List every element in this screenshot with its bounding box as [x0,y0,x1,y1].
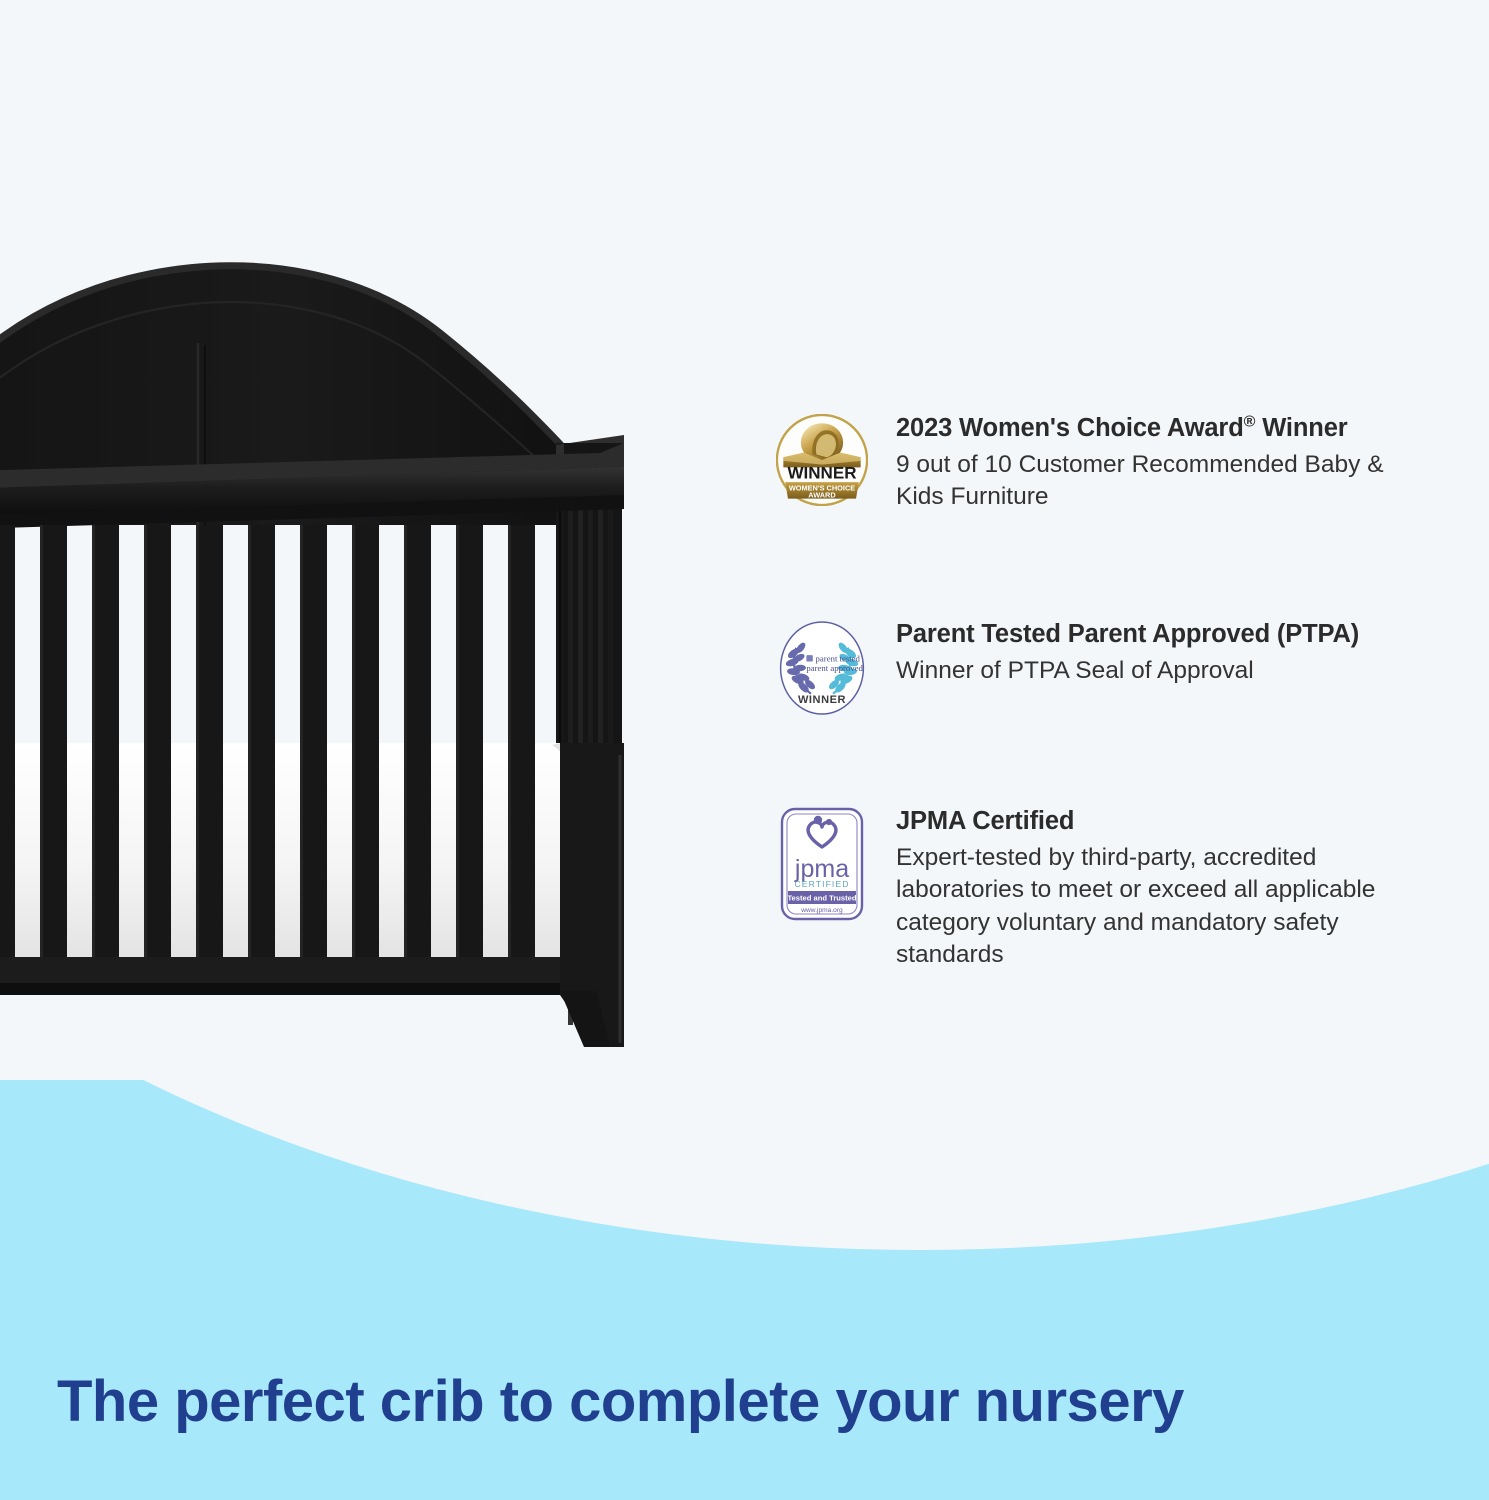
award-title: 2023 Women's Choice Award® Winner [896,412,1432,445]
badge-org-line2: AWARD [808,491,835,500]
award-description: 9 out of 10 Customer Recommended Baby & … [896,449,1416,514]
award-item-womens-choice: WINNER WOMEN'S CHOICE AWARD 2023 Women's… [772,404,1432,610]
jpma-url: www.jpma.org [800,907,843,914]
award-description: Expert-tested by third-party, accredited… [896,842,1416,972]
badge-slot: WINNER WOMEN'S CHOICE AWARD [772,404,872,506]
badge-slot: parent tested parent approved WINNER [772,610,872,716]
badge-slot: jpma CERTIFIED Tested and Trusted www.jp… [772,797,872,921]
award-item-ptpa: parent tested parent approved WINNER Par… [772,610,1432,797]
badge-winner-label: WINNER [787,463,856,482]
jpma-certified-badge: jpma CERTIFIED Tested and Trusted www.jp… [780,807,864,921]
crib-bottom-rail [0,951,624,995]
award-title: Parent Tested Parent Approved (PTPA) [896,618,1432,651]
ptpa-seal-badge: parent tested parent approved WINNER [776,620,868,716]
product-feature-image: WINNER WOMEN'S CHOICE AWARD 2023 Women's… [0,0,1489,1500]
award-title-main: 2023 Women's Choice Award [896,414,1244,442]
registered-mark: ® [1244,414,1256,431]
award-text: JPMA Certified Expert-tested by third-pa… [896,797,1432,972]
award-item-jpma: jpma CERTIFIED Tested and Trusted www.jp… [772,797,1432,972]
award-title-tail: Winner [1255,414,1347,442]
awards-list: WINNER WOMEN'S CHOICE AWARD 2023 Women's… [772,404,1432,972]
award-text: 2023 Women's Choice Award® Winner 9 out … [896,404,1432,514]
crib-leg-right [560,743,624,1047]
ptpa-line2: parent approved [806,663,863,673]
ptpa-winner-label: WINNER [798,694,846,706]
womens-choice-award-badge: WINNER WOMEN'S CHOICE AWARD [776,414,868,506]
crib-product-image [0,195,700,1065]
page-headline: The perfect crib to complete your nurser… [57,1368,1184,1435]
award-title: JPMA Certified [896,805,1432,838]
jpma-certified-label: CERTIFIED [794,879,849,889]
bottom-blue-band [0,1080,1489,1500]
award-description: Winner of PTPA Seal of Approval [896,655,1416,688]
award-text: Parent Tested Parent Approved (PTPA) Win… [896,610,1432,687]
jpma-banner-label: Tested and Trusted [787,894,856,903]
